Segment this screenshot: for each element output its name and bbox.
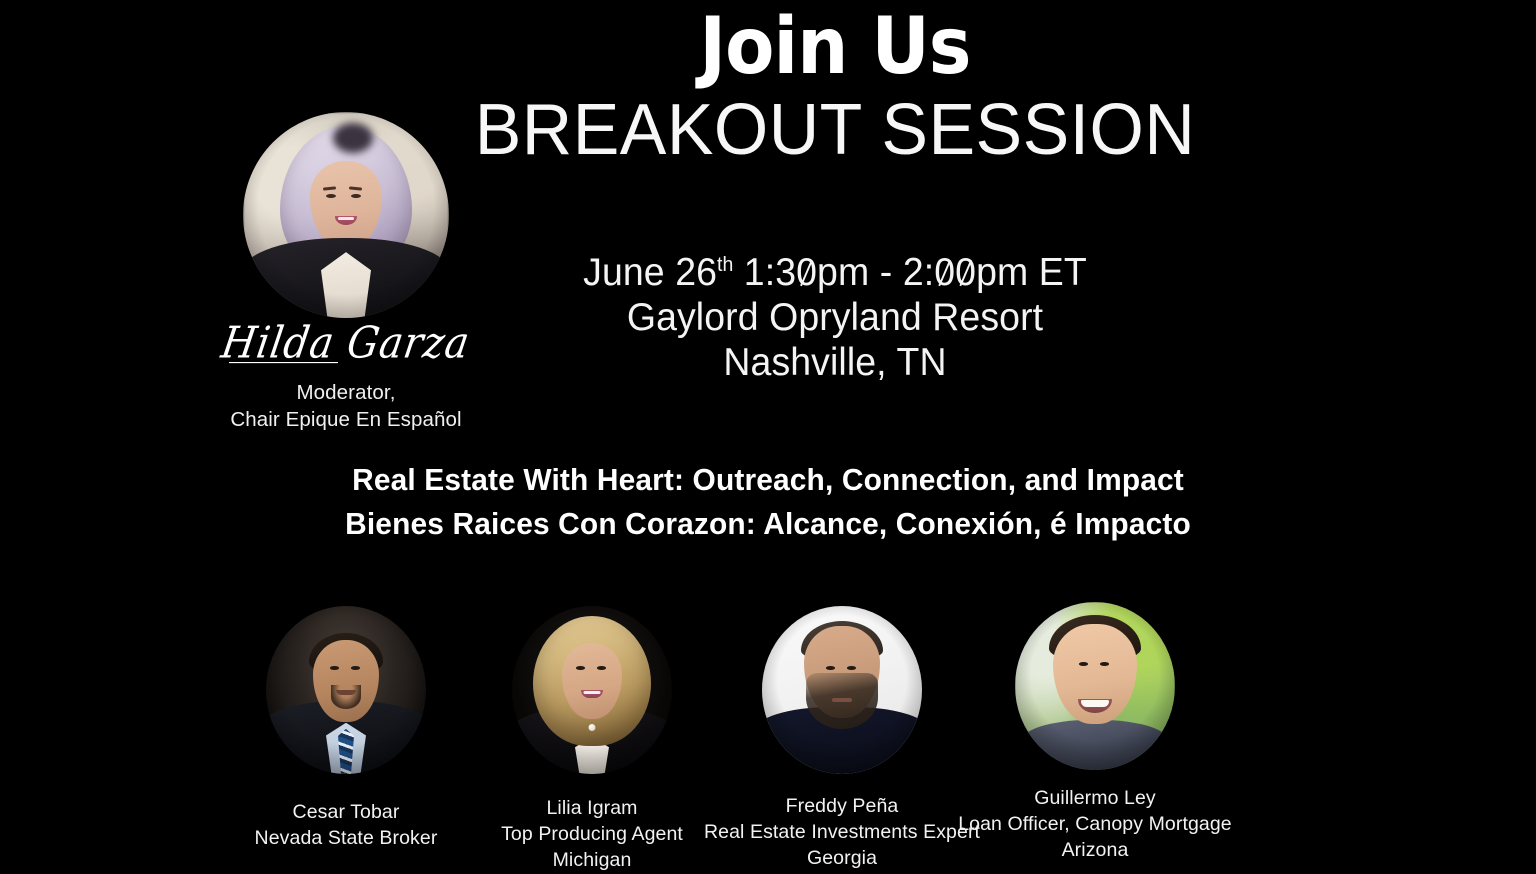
speaker-photo-cesar-tobar (266, 606, 426, 774)
moderator-role-line-2: Chair Epique En Español (186, 406, 506, 433)
photo-vignette (762, 606, 922, 774)
event-venue: Gaylord Opryland Resort (446, 295, 1224, 340)
speaker-photo-freddy-pena (762, 606, 922, 774)
date-ordinal-suffix: th (717, 254, 733, 276)
photo-vignette (1015, 602, 1175, 770)
speaker-role: Loan Officer, Canopy Mortgage (935, 812, 1255, 838)
page-title: BREAKOUT SESSION (442, 88, 1228, 173)
event-datetime-line: June 26th 1:30pm - 2:00pm ET (446, 250, 1224, 295)
eyebrow-join-us: Join Us (462, 8, 1207, 88)
moderator-photo-vignette (243, 112, 449, 318)
event-time-end: 2:00pm ET (903, 251, 1087, 294)
moderator-block: Hilda Garza Moderator, Chair Epique En E… (186, 112, 506, 433)
speaker-photo-guillermo-ley (1015, 602, 1175, 770)
speaker-card-guillermo-ley: Guillermo Ley Loan Officer, Canopy Mortg… (935, 602, 1255, 864)
session-title-spanish: Bienes Raices Con Corazon: Alcance, Cone… (180, 502, 1356, 546)
session-title-block: Real Estate With Heart: Outreach, Connec… (180, 458, 1356, 546)
speaker-caption-guillermo-ley: Guillermo Ley Loan Officer, Canopy Mortg… (935, 786, 1255, 864)
photo-vignette (266, 606, 426, 774)
slide-canvas: Join Us BREAKOUT SESSION June 26th 1:30p… (0, 0, 1536, 864)
speaker-location: Arizona (935, 838, 1255, 864)
moderator-role-line-1: Moderator, (186, 379, 506, 406)
moderator-role: Moderator, Chair Epique En Español (186, 379, 506, 433)
speaker-photo-lilia-igram (512, 606, 672, 774)
moderator-signature: Hilda Garza (219, 322, 473, 366)
event-time-start: 1:30pm (744, 251, 869, 294)
session-title-english: Real Estate With Heart: Outreach, Connec… (180, 458, 1356, 502)
photo-vignette (512, 606, 672, 774)
headline-block: Join Us BREAKOUT SESSION (430, 8, 1240, 173)
speaker-name: Guillermo Ley (935, 786, 1255, 812)
event-city: Nashville, TN (446, 340, 1224, 385)
event-details: June 26th 1:30pm - 2:00pm ET Gaylord Opr… (446, 250, 1224, 386)
time-separator: - (869, 251, 903, 294)
event-date: June 26 (583, 251, 717, 294)
moderator-photo (243, 112, 449, 318)
